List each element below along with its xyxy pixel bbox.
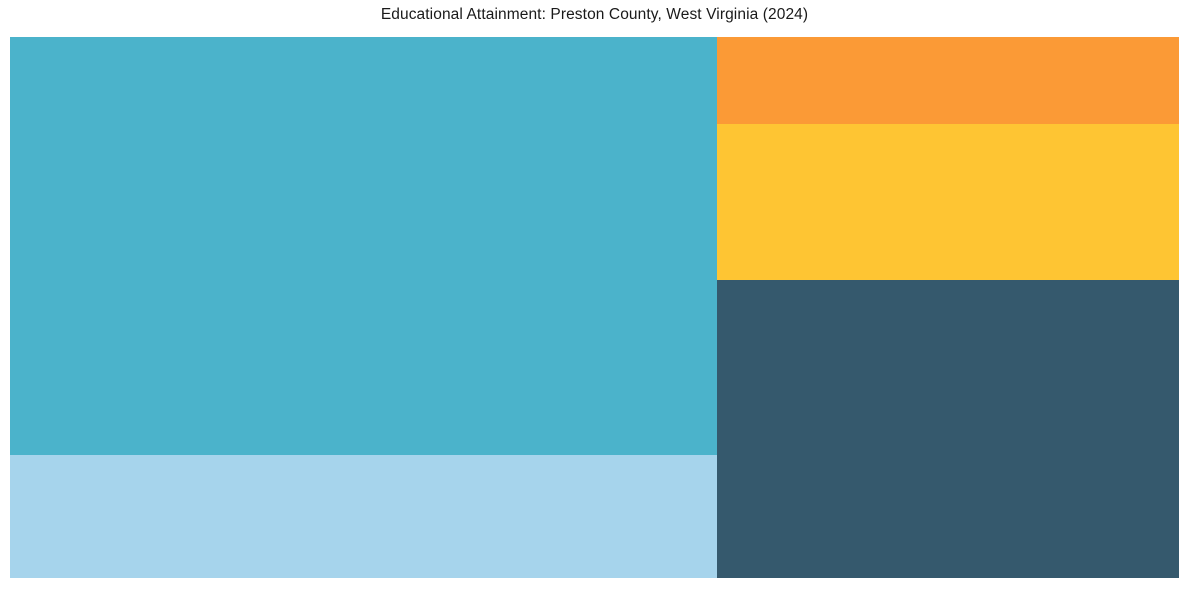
chart-title: Educational Attainment: Preston County, … [0, 5, 1189, 24]
treemap-tile[interactable]: Some college, no degree [10, 455, 717, 578]
figure-canvas: Educational Attainment: Preston County, … [0, 0, 1189, 590]
treemap-plot-area: High school graduate (includes equivalen… [10, 37, 1179, 578]
treemap-tile[interactable]: Graduate or professional degree [717, 124, 1179, 280]
treemap-tile[interactable]: Less than high school diploma [717, 280, 1179, 578]
treemap-tile[interactable]: High school graduate (includes equivalen… [10, 37, 717, 455]
treemap-tile[interactable]: Bachelor's degree [717, 37, 1179, 124]
